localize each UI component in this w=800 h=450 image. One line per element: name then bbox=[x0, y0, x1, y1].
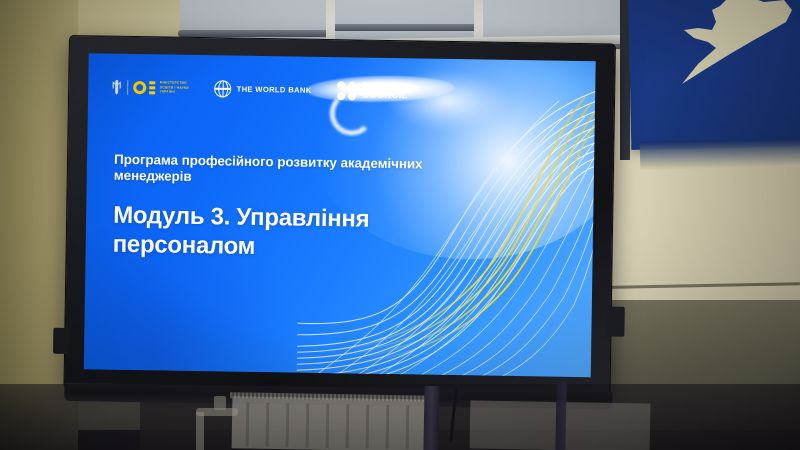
blind-rail bbox=[178, 30, 330, 37]
tv-mount-bracket bbox=[606, 306, 624, 336]
display-stand-post bbox=[423, 386, 439, 450]
ukraine-trident-icon bbox=[111, 80, 122, 95]
window-blind bbox=[330, 0, 478, 26]
ministry-logo-text: МІНІСТЕРСТВО ОСВІТИ І НАУКИ УКРАЇНИ bbox=[160, 81, 189, 95]
display-television: МІНІСТЕРСТВО ОСВІТИ І НАУКИ УКРАЇНИ THE … bbox=[64, 36, 614, 397]
world-bank-logo: THE WORLD BANK bbox=[215, 80, 312, 99]
tv-mount-bracket bbox=[53, 328, 69, 354]
ministry-of-education-ukraine-logo: МІНІСТЕРСТВО ОСВІТИ І НАУКИ УКРАЇНИ bbox=[111, 80, 189, 96]
mon-mark bbox=[133, 81, 155, 95]
presentation-slide[interactable]: МІНІСТЕРСТВО ОСВІТИ І НАУКИ УКРАЇНИ THE … bbox=[84, 53, 596, 377]
wall-panel-edge bbox=[640, 138, 800, 170]
window-blind bbox=[180, 0, 328, 32]
radiator bbox=[232, 396, 433, 450]
dove-icon bbox=[668, 0, 794, 92]
blind-rail bbox=[330, 24, 480, 31]
globe-icon bbox=[215, 80, 232, 97]
mon-bars-icon bbox=[149, 81, 155, 95]
heating-pipe bbox=[196, 412, 204, 450]
logo-divider bbox=[127, 80, 128, 95]
photo-scene: МІНІСТЕРСТВО ОСВІТИ І НАУКИ УКРАЇНИ THE … bbox=[0, 0, 800, 450]
mon-circle-icon bbox=[133, 81, 146, 94]
ministry-line-3: УКРАЇНИ bbox=[160, 91, 189, 95]
slide-kicker: Програма професійного розвитку академічн… bbox=[114, 152, 444, 189]
radiator-valve bbox=[214, 396, 226, 410]
display-stand-post bbox=[555, 382, 566, 450]
slide-headline: Модуль 3. Управління персоналом bbox=[113, 202, 454, 264]
world-bank-label: THE WORLD BANK bbox=[237, 85, 312, 95]
